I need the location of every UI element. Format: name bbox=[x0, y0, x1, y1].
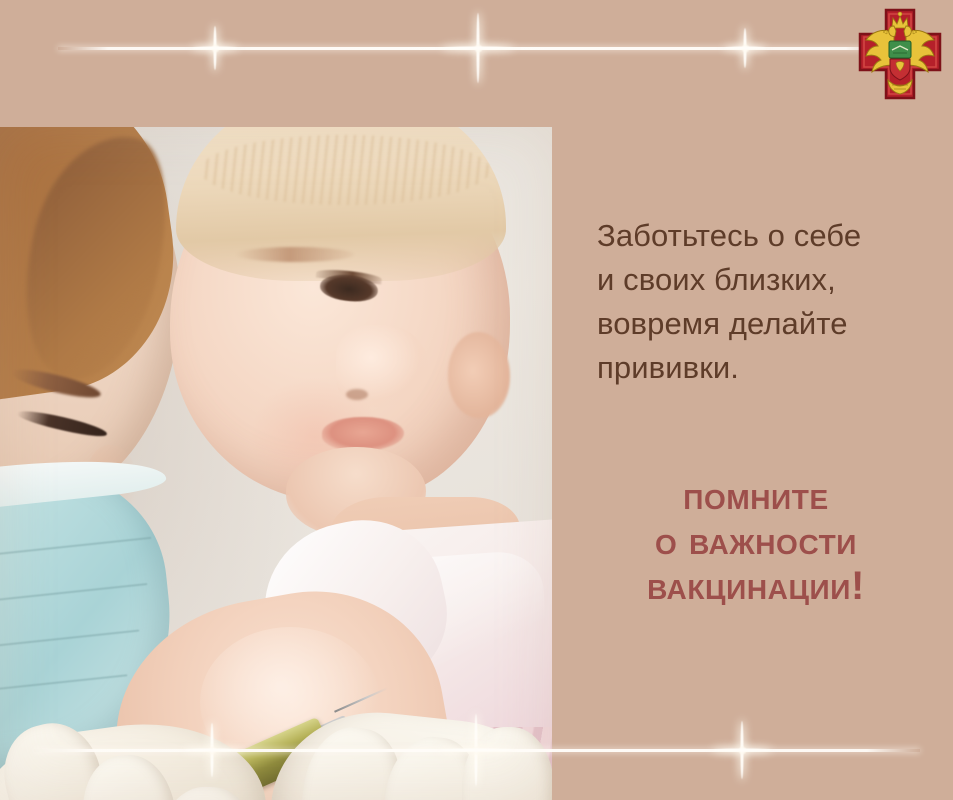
decorative-line-top bbox=[58, 47, 896, 50]
eagle-head-left bbox=[889, 26, 896, 36]
body-text: Заботьтесь о себе и своих близких, вовре… bbox=[597, 214, 937, 390]
eagle-head-right bbox=[904, 26, 911, 36]
page-title: Помните о важности вакцинации! bbox=[566, 474, 946, 608]
photo-scene bbox=[0, 127, 552, 800]
decorative-line-bottom bbox=[34, 749, 920, 752]
child-eyebrow bbox=[236, 247, 354, 262]
body-text-line: прививки. bbox=[597, 346, 937, 390]
child-hair-strands bbox=[200, 135, 490, 205]
headline-line: вакцинации! bbox=[566, 564, 946, 609]
child-ear bbox=[448, 332, 510, 418]
vaccination-poster: Заботьтесь о себе и своих близких, вовре… bbox=[0, 0, 953, 800]
body-text-line: и своих близких, bbox=[597, 258, 937, 302]
vaccination-photo bbox=[0, 127, 552, 800]
body-text-line: вовремя делайте bbox=[597, 302, 937, 346]
headline-line: о важности bbox=[566, 519, 946, 564]
headline-line: Помните bbox=[566, 474, 946, 519]
rospotrebnadzor-emblem bbox=[856, 6, 944, 102]
child-nostril bbox=[346, 389, 368, 400]
body-text-line: Заботьтесь о себе bbox=[597, 214, 937, 258]
